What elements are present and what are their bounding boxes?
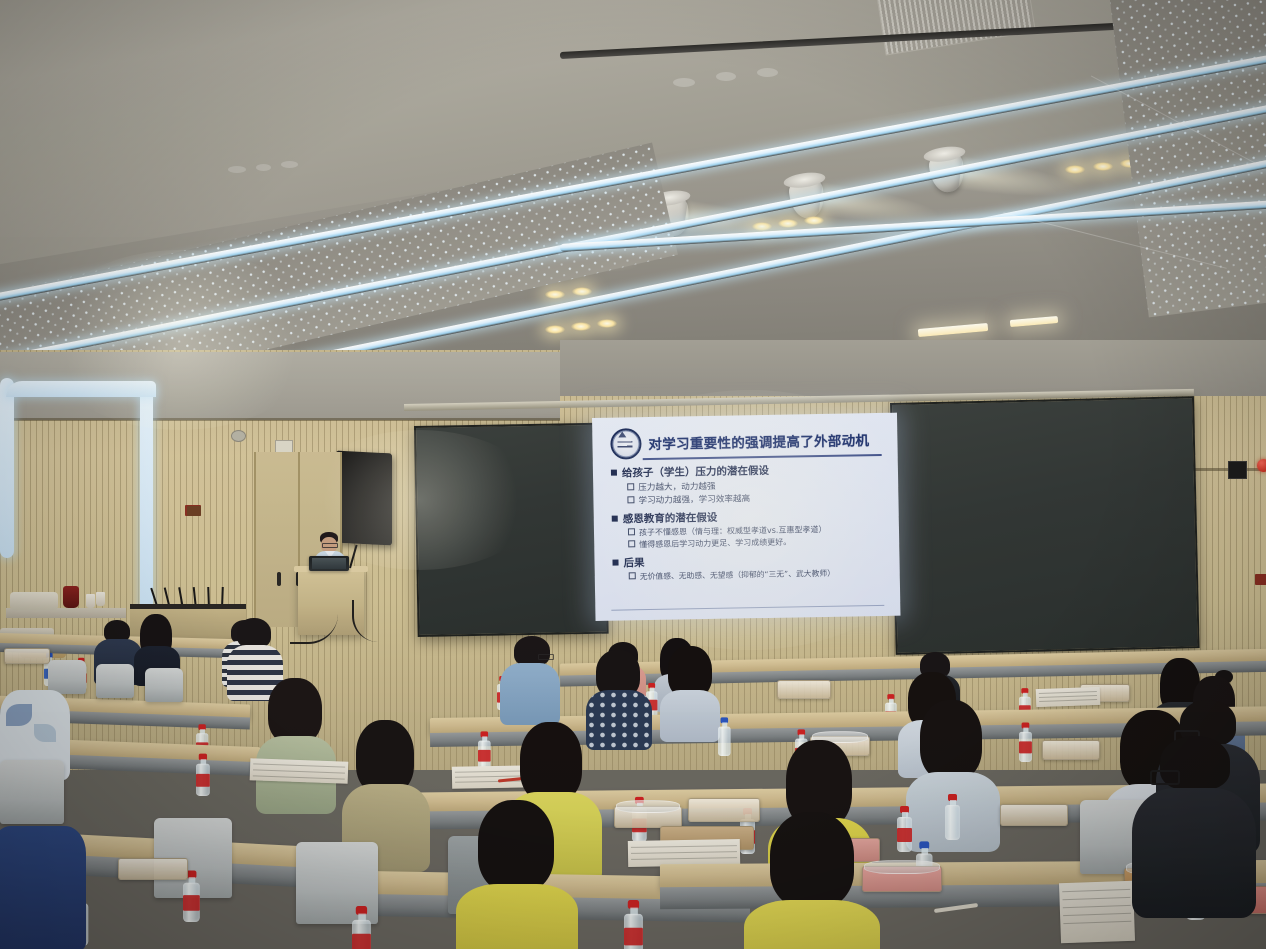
- recessed-spotlight: [804, 216, 824, 225]
- emergency-sign-right: [1255, 574, 1266, 585]
- recessed-spotlight: [545, 290, 565, 299]
- paper-cup: [86, 594, 95, 608]
- torso: [500, 663, 560, 725]
- bullet-hollow-square-icon: [629, 572, 636, 579]
- takeout-lunch-box: [777, 680, 831, 699]
- bullet-hollow-square-icon: [628, 528, 635, 535]
- hair-long: [920, 700, 982, 780]
- auditorium-chair[interactable]: [0, 760, 64, 824]
- bullet-hollow-square-icon: [627, 483, 634, 490]
- rear-door-left: [254, 452, 302, 627]
- newspaper-sheet: [628, 839, 740, 867]
- recessed-spotlight: [778, 219, 798, 228]
- bullet-hollow-square-icon: [628, 540, 635, 547]
- auditorium-chair[interactable]: [145, 668, 183, 702]
- water-bottle: [196, 754, 210, 796]
- hair-long: [520, 722, 582, 802]
- lecture-board-right: [890, 396, 1200, 655]
- ceiling-dome-detail: [757, 68, 778, 77]
- wall-control-box[interactable]: [1228, 461, 1247, 479]
- water-bottle: [352, 906, 371, 949]
- wall-switch-plate: [187, 506, 201, 516]
- ceiling-dome-detail: [673, 78, 695, 87]
- ceiling-dome-detail: [281, 161, 298, 168]
- bullet-square-icon: [612, 516, 618, 522]
- perforated-ceiling-panel: [1105, 0, 1266, 317]
- torso: [660, 690, 720, 742]
- soffit-curve-left: [0, 378, 14, 558]
- projected-slide: 对学习重要性的强调提高了外部动机 给孩子（学生）压力的潜在假设 压力越大，动力越…: [592, 413, 900, 621]
- ceiling-dome-detail: [716, 72, 736, 81]
- bullet-text: 后果: [623, 557, 644, 569]
- troffer-light: [918, 323, 988, 337]
- print-pattern: [6, 704, 32, 726]
- recessed-spotlight: [752, 222, 772, 231]
- torso: [456, 884, 578, 949]
- water-bottle: [624, 900, 643, 949]
- lunch-box-lid: [864, 860, 940, 874]
- bullet-text: 无价值感、无助感、无望感（抑郁的“三无”、武大教师）: [640, 569, 835, 581]
- glasses-icon: [1150, 770, 1180, 785]
- water-bottle: [478, 731, 491, 770]
- recessed-spotlight: [1065, 165, 1085, 174]
- newspaper-sheet: [1059, 881, 1135, 944]
- fire-alarm-indicator: [1257, 459, 1266, 472]
- print-pattern: [34, 724, 56, 742]
- lecture-hall-photo: 对学习重要性的强调提高了外部动机 给孩子（学生）压力的潜在假设 压力越大，动力越…: [0, 0, 1266, 949]
- torso: [1132, 788, 1256, 918]
- bullet-hollow-square-icon: [627, 496, 634, 503]
- takeout-lunch-box: [688, 798, 760, 822]
- water-bottle: [718, 717, 731, 756]
- newspaper-sheet: [250, 758, 349, 783]
- laptop-screen-glow: [312, 558, 346, 569]
- bullet-text: 给孩子（学生）压力的潜在假设: [622, 465, 769, 480]
- slide-footer-rule: [611, 605, 884, 611]
- slide-header: 对学习重要性的强调提高了外部动机: [610, 424, 883, 459]
- university-seal-icon: [610, 428, 642, 460]
- lecture-board-left: [414, 423, 609, 637]
- hair-long: [478, 800, 554, 892]
- bullet-text: 感恩教育的潜在假设: [623, 512, 718, 526]
- water-bottle: [1019, 722, 1032, 762]
- slide-title: 对学习重要性的强调提高了外部动机: [648, 429, 869, 453]
- bullet-square-icon: [611, 470, 617, 476]
- water-bottle: [945, 794, 960, 840]
- wall-trim-line: [0, 418, 560, 421]
- auditorium-chair[interactable]: [48, 660, 86, 694]
- recessed-spotlight: [597, 319, 617, 328]
- troffer-light: [1010, 316, 1058, 327]
- recessed-spotlight: [572, 287, 592, 296]
- floral-pattern: [586, 690, 652, 750]
- bullet-square-icon: [612, 560, 618, 566]
- takeout-lunch-box: [118, 858, 188, 880]
- door-handle[interactable]: [277, 572, 281, 586]
- newspaper-sheet: [1036, 687, 1101, 707]
- recessed-spotlight: [545, 325, 565, 334]
- hair-long: [770, 812, 854, 908]
- soffit-curve-left2: [140, 386, 153, 616]
- water-bottle: [897, 806, 912, 852]
- hair: [514, 636, 550, 666]
- bullet-text: 孩子不懂感恩（情与理：权威型孝道vs.互惠型孝道）: [639, 525, 827, 537]
- soffit-curve-cap: [6, 381, 156, 397]
- wall-speaker: [336, 451, 392, 546]
- takeout-lunch-box: [1000, 804, 1068, 826]
- bullet-text: 懂得感恩后学习动力更足、学习成绩更好。: [639, 538, 791, 550]
- presenter-glasses-icon: [322, 543, 338, 548]
- torso: [744, 900, 880, 949]
- hair-long: [268, 678, 322, 744]
- slide-body: 给孩子（学生）压力的潜在假设 压力越大，动力越强 学习动力越强，学习效率越高 感…: [611, 461, 890, 584]
- auditorium-chair[interactable]: [96, 664, 134, 698]
- supply-pile: [10, 592, 58, 610]
- recessed-spotlight: [571, 322, 591, 331]
- takeout-lunch-box: [1042, 740, 1100, 760]
- takeout-lunch-box: [4, 648, 50, 664]
- wall-upper-band-right: [560, 340, 1266, 396]
- ceiling-dome-detail: [228, 166, 246, 173]
- hair: [237, 618, 271, 648]
- red-thermos: [63, 586, 79, 608]
- ceiling-dome-detail: [256, 164, 271, 171]
- bullet-text: 压力越大，动力越强: [638, 482, 716, 493]
- wall-dome-detector-icon: [231, 430, 246, 442]
- recessed-spotlight: [1093, 162, 1113, 171]
- counter-dark-top: [130, 604, 246, 609]
- bullet-text: 学习动力越强，学习效率越高: [638, 494, 750, 506]
- lunch-box-lid: [616, 800, 680, 813]
- glasses-icon: [538, 654, 554, 660]
- hair-long: [356, 720, 414, 794]
- torso: [0, 826, 86, 949]
- paper-cup: [96, 592, 105, 606]
